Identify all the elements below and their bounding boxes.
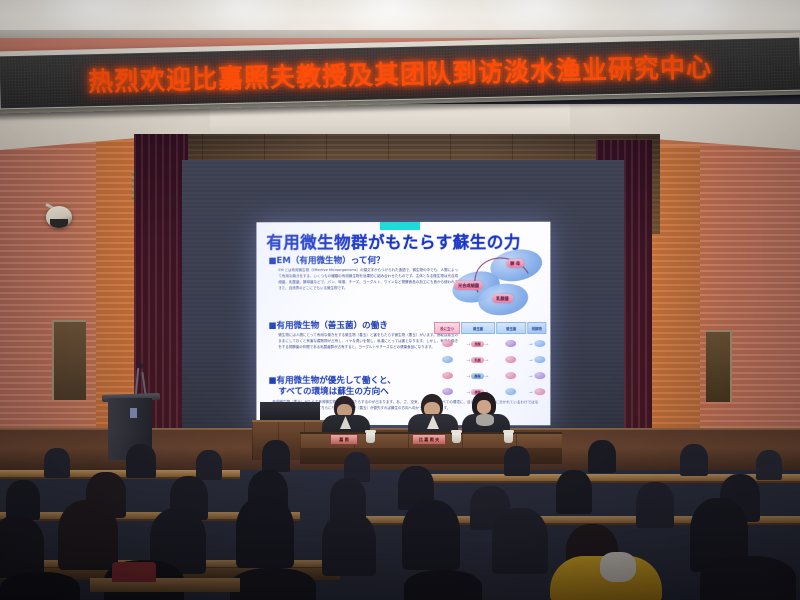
sconce-shade-underside [50, 219, 68, 228]
slide-section-2-body: 微生物には人間にとって有用な働きをする微生物（善玉）と害をもたらす微生物（悪玉）… [278, 332, 458, 350]
water-cup [366, 432, 375, 443]
water-cup [504, 432, 513, 443]
audience-head [6, 480, 40, 520]
red-chair-back [112, 562, 156, 582]
audience-head [196, 450, 222, 480]
microbe-cycle-diagram: 光合成細菌 酵 母 乳酸菌 [452, 248, 548, 320]
yellow-jacket-collar [600, 552, 636, 582]
conference-hall-photo: 有用微生物群がもたらす蘇生の力 ■EM（有用微生物）って何？ EM とは有用微生… [0, 0, 800, 600]
panelist-scarf [476, 414, 494, 426]
audience-head [58, 500, 118, 570]
flow-row: →酵母→ → [434, 368, 546, 383]
diagram-label-yeast: 酵 母 [506, 259, 524, 268]
flow-header-useful: 役に立つ [434, 322, 460, 334]
audience-head [404, 570, 482, 600]
slide-section-1-heading: ■EM（有用微生物）って何？ [268, 254, 384, 266]
audience-head [556, 470, 592, 514]
led-banner-text: 热烈欢迎比嘉照夫教授及其团队到访淡水渔业研究中心 [88, 47, 713, 99]
flow-row: →乳酸→ → [434, 352, 546, 367]
audience-head [262, 440, 290, 472]
water-cup [452, 432, 461, 443]
flow-header-product: 発酵物 [527, 322, 546, 334]
audience-head [44, 448, 70, 478]
audience-head [636, 482, 674, 528]
audience-head [756, 450, 782, 480]
audience-head [0, 516, 44, 578]
nameplate-center: 比 嘉 照 夫 [412, 434, 446, 445]
flow-row: →発酵→ → [434, 336, 546, 351]
left-side-door[interactable] [52, 320, 86, 400]
audience-head [126, 444, 156, 478]
lectern-indicator-light [130, 408, 137, 418]
slide-section-2-heading: ■有用微生物（善玉菌）の働き [268, 319, 387, 331]
audience-head [504, 446, 530, 476]
flow-header-good-microbe-a: 善玉菌 [461, 322, 495, 334]
projector-console [260, 402, 320, 422]
audience-head [236, 496, 294, 568]
fermentation-flow-table: 役に立つ 善玉菌 善玉菌 発酵物 →発酵→ → →乳酸→ → →酵母→ → [434, 322, 546, 400]
nameplate-left: 嘉 照 [330, 434, 358, 445]
audience-head [492, 508, 548, 574]
slide-section-1-body: EM とは有用微生物（Effective Microorganisms）の頭文字… [278, 267, 458, 292]
panelist-face [477, 400, 491, 414]
right-side-door[interactable] [706, 330, 732, 402]
diagram-label-photosynthetic: 光合成細菌 [454, 281, 483, 290]
audience-head [588, 440, 616, 473]
audience-head [0, 572, 80, 600]
diagram-label-lactic: 乳酸菌 [492, 294, 513, 303]
flow-header-good-microbe-b: 善玉菌 [496, 322, 526, 334]
audience-head [700, 556, 796, 600]
audience-head [680, 444, 708, 476]
audience-head [322, 512, 376, 576]
audience-head [402, 500, 460, 570]
audience-head [230, 568, 316, 600]
